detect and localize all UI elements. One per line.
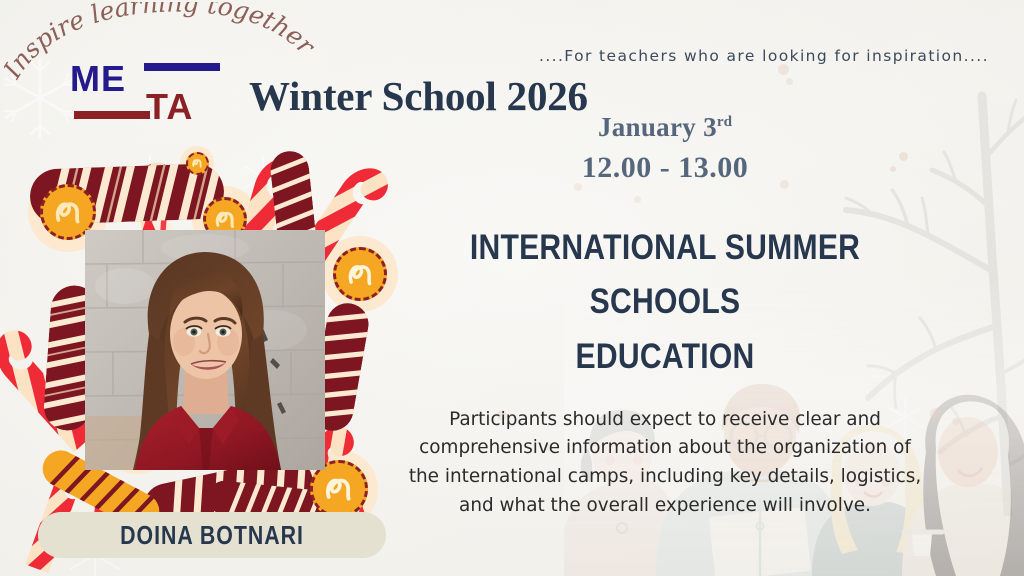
cookie-icing xyxy=(52,196,84,228)
winter-school-poster: DOINA BOTNARI Inspire learning together … xyxy=(0,0,1024,576)
event-time: 12.00 - 13.00 xyxy=(400,151,930,185)
confetti-dot xyxy=(952,418,959,425)
event-date-text: January 3 xyxy=(598,112,717,142)
event-date-ordinal: rd xyxy=(717,114,732,130)
session-heading-line-2: EDUCATION xyxy=(437,330,893,384)
session-description: Participants should expect to receive cl… xyxy=(400,406,930,521)
cookie-icing xyxy=(191,157,203,169)
speaker-portrait xyxy=(85,230,325,470)
header-tagline: ....For teachers who are looking for ins… xyxy=(539,47,989,65)
meta-logo-bar-top xyxy=(144,63,220,71)
cookie-icing xyxy=(345,259,376,290)
cookie-icing xyxy=(322,472,355,505)
meta-logo-me: ME xyxy=(70,58,126,99)
event-date: January 3rd xyxy=(400,112,930,143)
meta-logo: ME TA xyxy=(70,57,250,125)
cookie-icon xyxy=(186,152,209,175)
meta-logo-bar-bottom xyxy=(74,111,150,119)
speaker-name: DOINA BOTNARI xyxy=(120,520,304,551)
event-details: January 3rd 12.00 - 13.00 INTERNATIONAL … xyxy=(400,112,930,521)
confetti-dot xyxy=(930,408,942,420)
confetti-dot xyxy=(778,64,789,75)
session-heading: INTERNATIONAL SUMMER SCHOOLS EDUCATION xyxy=(437,221,893,384)
cookie-icing xyxy=(213,207,237,231)
confetti-dot xyxy=(786,78,793,85)
meta-logo-ta: TA xyxy=(146,86,193,125)
session-heading-line-1: INTERNATIONAL SUMMER SCHOOLS xyxy=(437,221,893,330)
speaker-name-pill: DOINA BOTNARI xyxy=(38,512,386,558)
portrait-image xyxy=(85,230,325,470)
cookie-icon xyxy=(333,247,387,301)
